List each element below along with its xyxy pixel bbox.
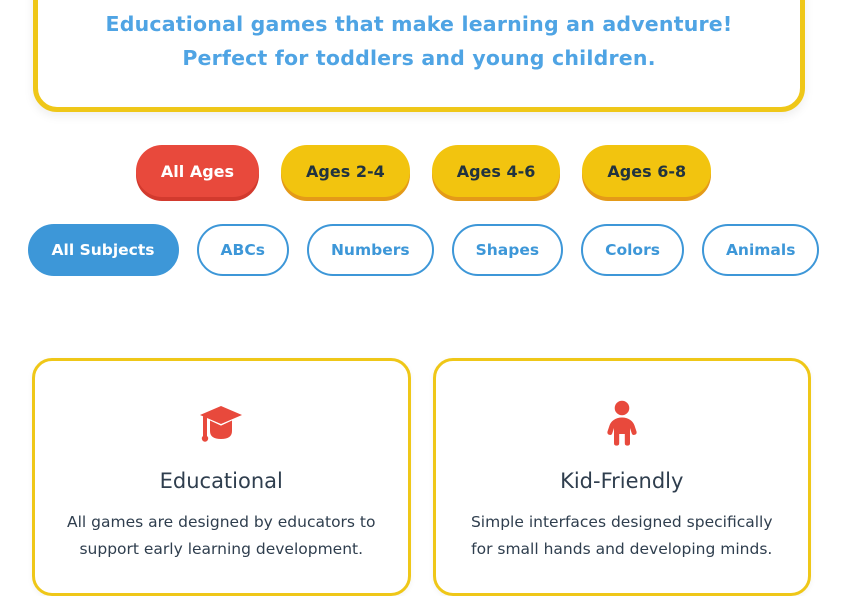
hero-tagline: Educational games that make learning an … bbox=[89, 7, 749, 75]
graduation-cap-icon bbox=[61, 399, 382, 447]
subject-filter-numbers[interactable]: Numbers bbox=[307, 224, 434, 276]
age-filter-row: All Ages Ages 2-4 Ages 4-6 Ages 6-8 bbox=[0, 145, 847, 197]
hero-banner: Educational games that make learning an … bbox=[33, 0, 805, 112]
age-filter-4-6[interactable]: Ages 4-6 bbox=[432, 145, 561, 197]
subject-filter-shapes[interactable]: Shapes bbox=[452, 224, 564, 276]
age-filter-all-ages[interactable]: All Ages bbox=[136, 145, 259, 197]
subject-filter-row: All Subjects ABCs Numbers Shapes Colors … bbox=[0, 224, 847, 276]
subject-filter-all-subjects[interactable]: All Subjects bbox=[28, 224, 179, 276]
age-filter-6-8[interactable]: Ages 6-8 bbox=[582, 145, 711, 197]
feature-card-kid-friendly: Kid-Friendly Simple interfaces designed … bbox=[433, 358, 812, 596]
feature-card-title: Kid-Friendly bbox=[462, 467, 783, 495]
age-filter-2-4[interactable]: Ages 2-4 bbox=[281, 145, 410, 197]
subject-filter-colors[interactable]: Colors bbox=[581, 224, 684, 276]
subject-filter-animals[interactable]: Animals bbox=[702, 224, 820, 276]
subject-filter-abcs[interactable]: ABCs bbox=[197, 224, 289, 276]
feature-card-educational: Educational All games are designed by ed… bbox=[32, 358, 411, 596]
feature-card-title: Educational bbox=[61, 467, 382, 495]
child-person-icon bbox=[462, 399, 783, 447]
feature-cards-area: Educational All games are designed by ed… bbox=[32, 358, 811, 596]
